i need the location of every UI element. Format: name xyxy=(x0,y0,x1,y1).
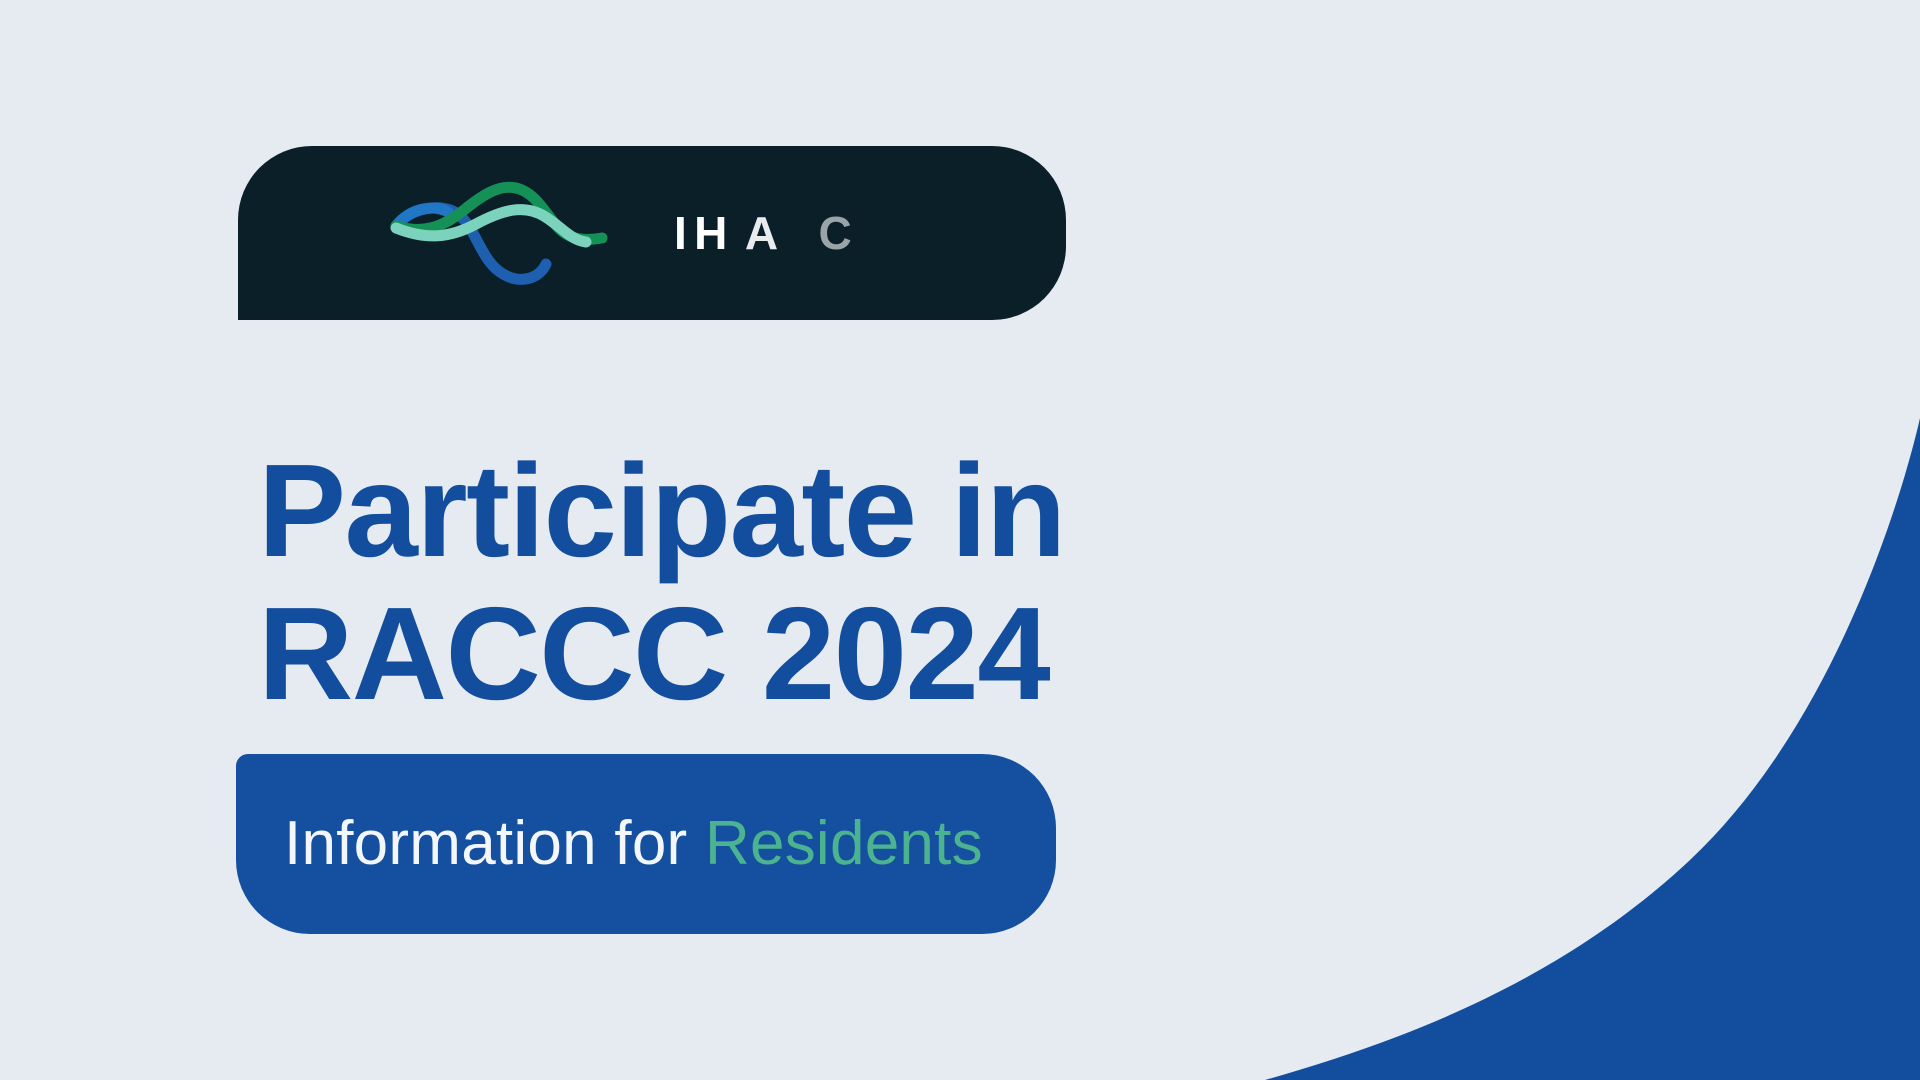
subtitle-pill: Information for Residents xyxy=(236,754,1056,934)
logo-badge: IH A C xyxy=(238,146,1066,320)
subtitle-plain: Information for xyxy=(284,809,687,878)
page-title: Participate in RACCC 2024 xyxy=(258,440,1378,725)
subtitle-text: Information for Residents xyxy=(284,813,983,875)
headline-line-1: Participate in xyxy=(258,440,1378,583)
wordmark-a: A xyxy=(745,210,786,256)
wordmark-ih: IH xyxy=(674,210,735,256)
ihac-wave-mark-icon xyxy=(384,172,622,294)
wordmark-c: C xyxy=(819,210,860,256)
promo-card: IH A C Participate in RACCC 2024 Informa… xyxy=(0,0,1920,1080)
logo-wordmark: IH A C xyxy=(674,210,859,256)
headline-line-2: RACCC 2024 xyxy=(258,583,1378,726)
subtitle-accent: Residents xyxy=(705,809,983,878)
